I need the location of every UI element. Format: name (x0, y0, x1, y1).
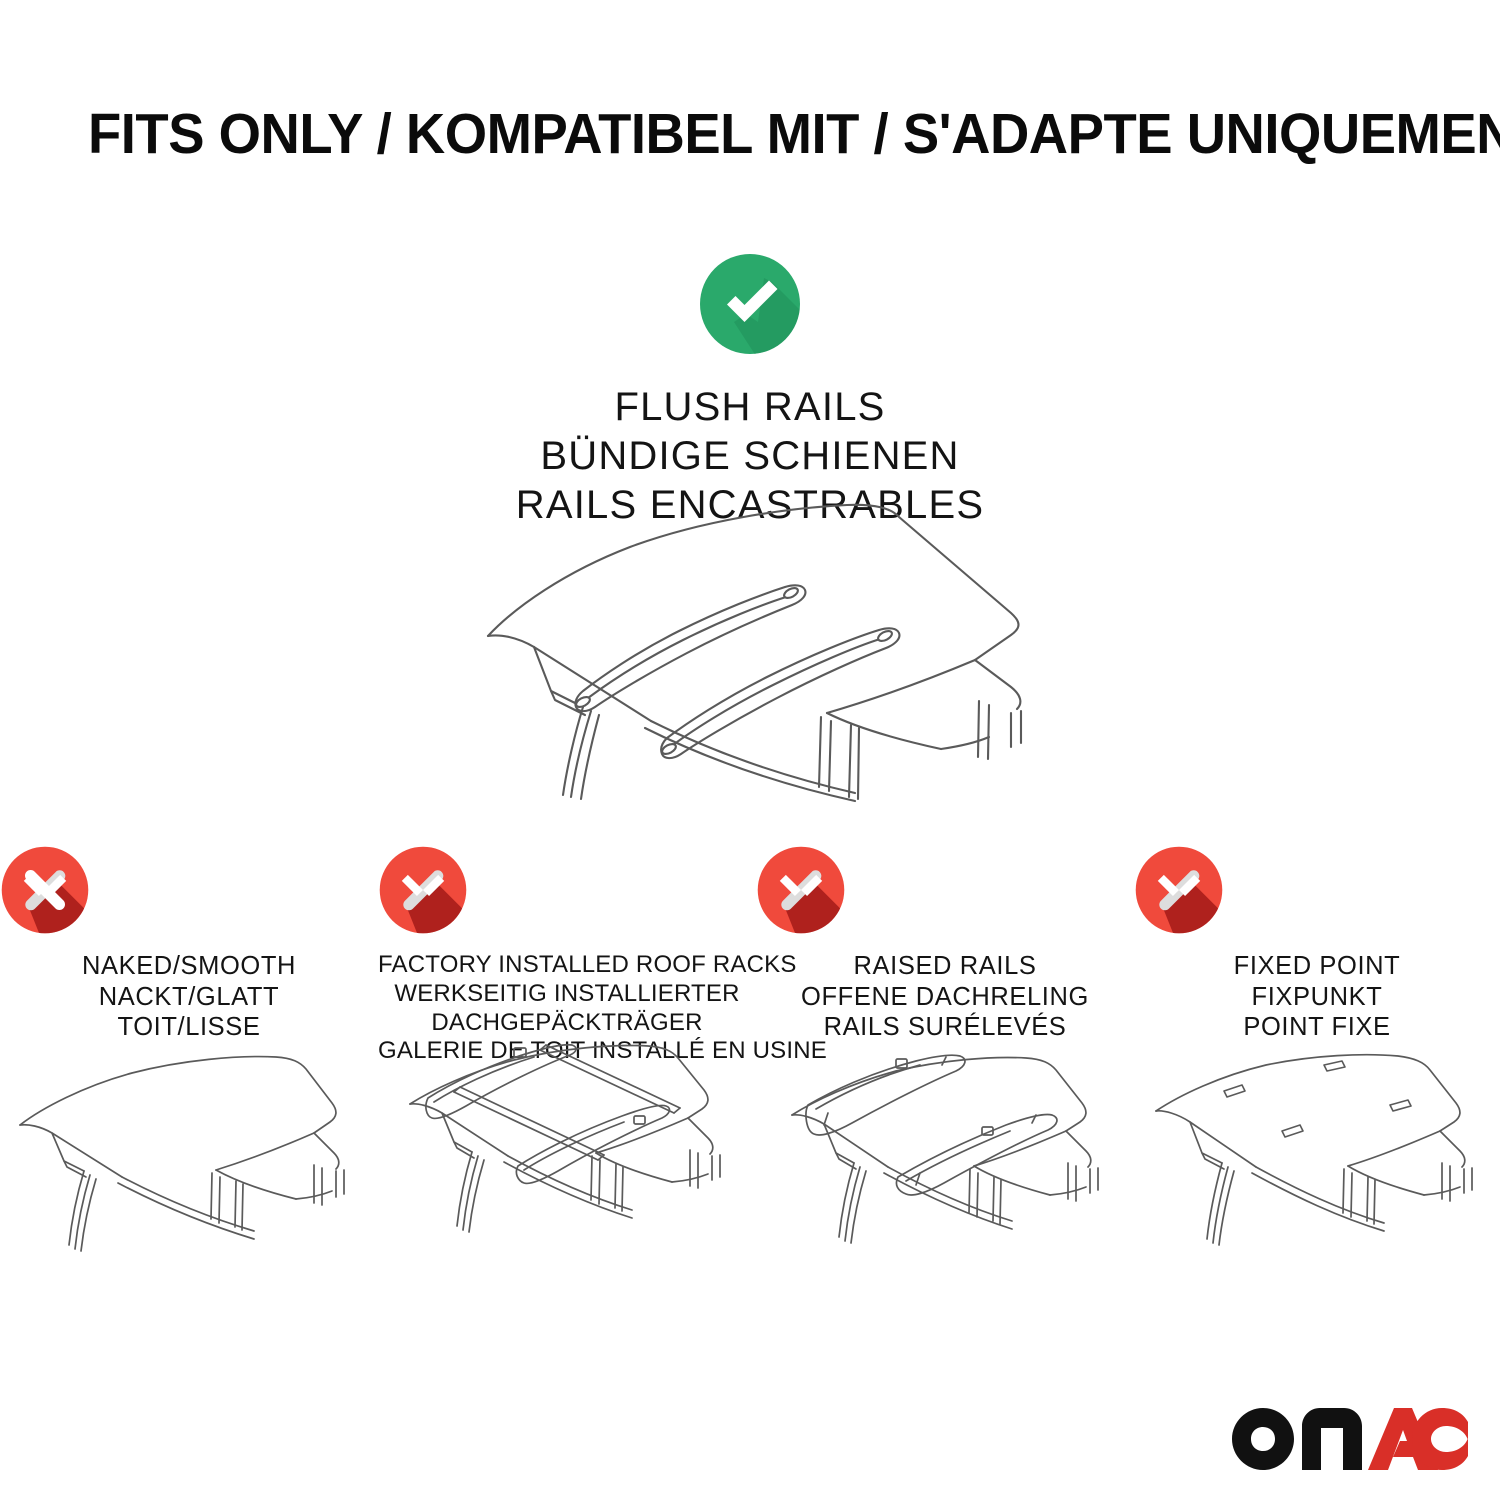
label-line-3: DACHGEPÄCKTRÄGER (378, 1009, 756, 1038)
label-line-2: OFFENE DACHRELING (756, 982, 1134, 1013)
label-line-1: NAKED/SMOOTH (0, 951, 378, 982)
x-circle-icon (756, 845, 1134, 941)
compatible-label-line-1: FLUSH RAILS (0, 383, 1500, 432)
label-line-3: TOIT/LISSE (0, 1012, 378, 1043)
check-circle-icon (698, 252, 802, 356)
label-line-2: NACKT/GLATT (0, 982, 378, 1013)
incompatible-section: NAKED/SMOOTH NACKT/GLATT TOIT/LISSE (0, 845, 1500, 1066)
incompatible-label-fixed-point: FIXED POINT FIXPUNKT POINT FIXE (1134, 951, 1500, 1043)
label-line-1: FIXED POINT (1134, 951, 1500, 982)
label-line-3: POINT FIXE (1134, 1012, 1500, 1043)
incompatible-column-raised-rails: RAISED RAILS OFFENE DACHRELING RAILS SUR… (756, 845, 1134, 1066)
x-circle-icon (378, 845, 756, 941)
x-circle-icon (1134, 845, 1500, 941)
label-line-2: WERKSEITIG INSTALLIERTER (378, 980, 756, 1009)
omac-logo (1232, 1408, 1468, 1470)
infographic-canvas: FITS ONLY / KOMPATIBEL MIT / S'ADAPTE UN… (0, 0, 1500, 1500)
compatible-section: FLUSH RAILS BÜNDIGE SCHIENEN RAILS ENCAS… (0, 252, 1500, 529)
label-line-1: FACTORY INSTALLED ROOF RACKS (378, 951, 756, 980)
car-roof-naked-smooth-illustration (14, 1053, 364, 1268)
label-line-2: FIXPUNKT (1134, 982, 1500, 1013)
x-circle-icon (0, 845, 378, 941)
car-roof-flush-rails-illustration (455, 495, 1055, 805)
label-line-1: RAISED RAILS (756, 951, 1134, 982)
page-title: FITS ONLY / KOMPATIBEL MIT / S'ADAPTE UN… (88, 105, 1358, 165)
incompatible-label-naked-smooth: NAKED/SMOOTH NACKT/GLATT TOIT/LISSE (0, 951, 378, 1043)
incompatible-label-raised-rails: RAISED RAILS OFFENE DACHRELING RAILS SUR… (756, 951, 1134, 1043)
car-roof-fixed-point-illustration (1142, 1053, 1492, 1268)
incompatible-column-fixed-point: FIXED POINT FIXPUNKT POINT FIXE (1134, 845, 1500, 1066)
compatible-label-line-2: BÜNDIGE SCHIENEN (0, 432, 1500, 481)
label-line-3: RAILS SURÉLEVÉS (756, 1012, 1134, 1043)
car-roof-factory-racks-illustration (392, 1040, 742, 1255)
incompatible-column-factory-roof-racks: FACTORY INSTALLED ROOF RACKS WERKSEITIG … (378, 845, 756, 1066)
incompatible-column-naked-smooth: NAKED/SMOOTH NACKT/GLATT TOIT/LISSE (0, 845, 378, 1066)
car-roof-raised-rails-illustration (770, 1053, 1120, 1268)
